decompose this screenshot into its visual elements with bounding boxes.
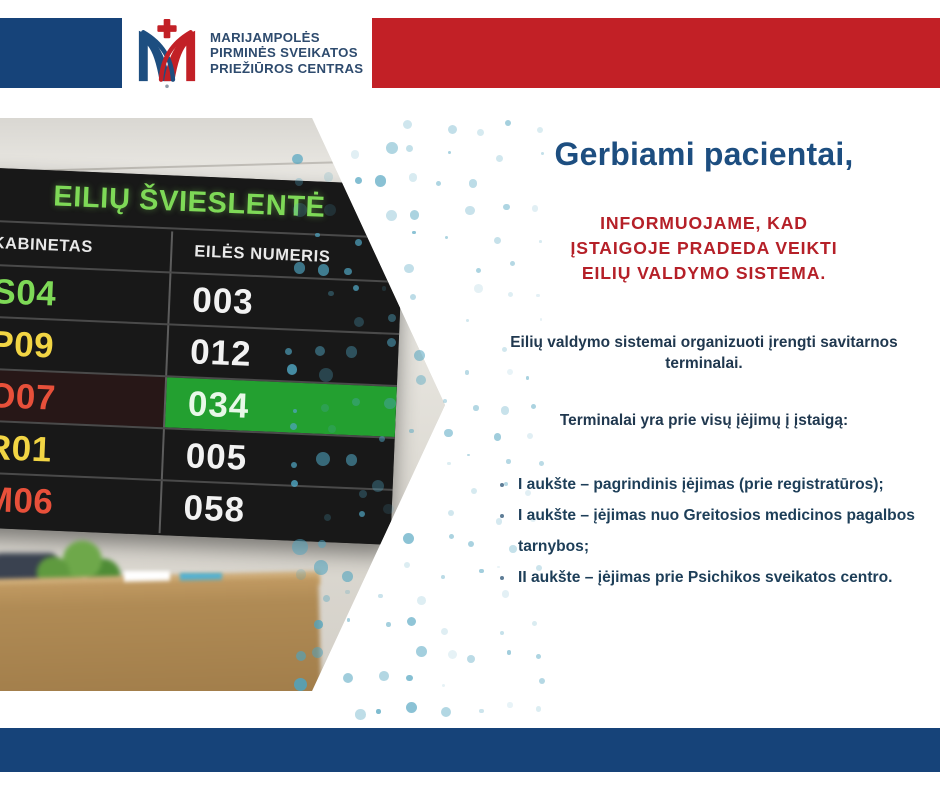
- board-rows: S04 003 P09 012 O07 034 R01 005: [0, 263, 401, 541]
- board-cell-number: 003: [192, 280, 255, 323]
- decorative-dot: [409, 173, 418, 182]
- decorative-dot: [379, 671, 389, 681]
- decorative-dot: [351, 150, 360, 159]
- decorative-dot: [386, 142, 398, 154]
- decorative-dot: [403, 533, 414, 544]
- header-blue-block: [0, 18, 122, 88]
- list-item: II aukšte – įėjimas prie Psichikos sveik…: [496, 562, 940, 593]
- logo-line-3: PRIEŽIŪROS CENTRAS: [210, 61, 363, 77]
- decorative-dot: [448, 151, 451, 154]
- logo-line-2: PIRMINĖS SVEIKATOS: [210, 45, 363, 61]
- decorative-dot: [355, 177, 362, 184]
- decorative-dot: [442, 684, 445, 687]
- decorative-dot: [375, 175, 386, 186]
- subtitle-line-3: EILIŲ VALDYMO SISTEMA.: [468, 261, 940, 286]
- decorative-dot: [378, 594, 383, 599]
- decorative-dot: [443, 399, 447, 403]
- header-bar: MARIJAMPOLĖS PIRMINĖS SVEIKATOS PRIEŽIŪR…: [0, 0, 940, 100]
- decorative-dot: [441, 628, 448, 635]
- paragraph-terminals: Eilių valdymo sistemai organizuoti įreng…: [468, 332, 940, 374]
- decorative-dot: [447, 462, 451, 466]
- board-cell-cabinet: R01: [0, 428, 52, 471]
- marijampole-pspc-logo-icon: [130, 16, 204, 90]
- decorative-dot: [386, 622, 391, 627]
- logo: MARIJAMPOLĖS PIRMINĖS SVEIKATOS PRIEŽIŪR…: [122, 8, 372, 98]
- decorative-dot: [448, 125, 457, 134]
- poster-root: MARIJAMPOLĖS PIRMINĖS SVEIKATOS PRIEŽIŪR…: [0, 0, 940, 788]
- list-item: I aukšte – pagrindinis įėjimas (prie reg…: [496, 469, 940, 500]
- header-red-block: [372, 18, 940, 88]
- message-panel: Gerbiami pacientai, INFORMUOJAME, KAD ĮS…: [468, 122, 940, 708]
- decorative-dot: [448, 510, 454, 516]
- decorative-dot: [386, 210, 398, 222]
- decorative-dot: [406, 145, 413, 152]
- decorative-dot: [404, 264, 414, 274]
- decorative-dot: [406, 675, 413, 682]
- footer-bar: [0, 728, 940, 772]
- decorative-dot: [444, 429, 452, 437]
- clinic-photo: EILIŲ ŠVIESLENTĖ KABINETAS EILĖS NUMERIS…: [0, 118, 450, 708]
- queue-display-board: EILIŲ ŠVIESLENTĖ KABINETAS EILĖS NUMERIS…: [0, 167, 405, 545]
- board-cell-number: 034: [187, 384, 250, 427]
- decorative-dot: [449, 534, 454, 539]
- announcement-subtitle: INFORMUOJAME, KAD ĮSTAIGOJE PRADEDA VEIK…: [468, 211, 940, 286]
- decorative-dot: [343, 673, 354, 684]
- entrance-list: I aukšte – pagrindinis įėjimas (prie reg…: [468, 469, 940, 593]
- board-column-kabinetas: KABINETAS: [0, 234, 93, 257]
- decorative-dot: [376, 709, 380, 713]
- decorative-dot: [407, 617, 416, 626]
- decorative-dot: [347, 618, 351, 622]
- decorative-dot: [410, 210, 420, 220]
- board-cell-cabinet: O07: [0, 376, 57, 419]
- subtitle-line-2: ĮSTAIGOJE PRADEDA VEIKTI: [468, 236, 940, 261]
- reception-desk-scene: [0, 503, 450, 708]
- decorative-dot: [441, 575, 445, 579]
- decorative-dot: [417, 596, 426, 605]
- board-cell-number: 012: [189, 332, 252, 375]
- desk-body: [0, 577, 322, 708]
- decorative-dot: [479, 709, 484, 714]
- board-column-eiles-numeris: EILĖS NUMERIS: [194, 242, 331, 267]
- decorative-dot: [436, 181, 442, 187]
- list-item: I aukšte – įėjimas nuo Greitosios medici…: [496, 500, 940, 562]
- logo-text: MARIJAMPOLĖS PIRMINĖS SVEIKATOS PRIEŽIŪR…: [210, 30, 363, 77]
- decorative-dot: [410, 294, 416, 300]
- page-title: Gerbiami pacientai,: [468, 136, 940, 173]
- decorative-dot: [445, 236, 448, 239]
- decorative-dot: [355, 709, 366, 720]
- board-cell-cabinet: S04: [0, 272, 57, 315]
- decorative-dot: [441, 707, 451, 717]
- paragraph-locations-intro: Terminalai yra prie visų įėjimų į įstaig…: [468, 410, 940, 431]
- decorative-dot: [403, 120, 412, 129]
- board-cell-number: 005: [185, 436, 248, 479]
- logo-line-1: MARIJAMPOLĖS: [210, 30, 363, 46]
- board-cell-cabinet: P09: [0, 324, 55, 367]
- decorative-dot: [448, 650, 457, 659]
- decorative-dot: [404, 562, 410, 568]
- subtitle-line-1: INFORMUOJAME, KAD: [468, 211, 940, 236]
- decorative-dot: [416, 646, 427, 657]
- decorative-dot: [406, 702, 417, 713]
- decorative-dot: [412, 231, 415, 234]
